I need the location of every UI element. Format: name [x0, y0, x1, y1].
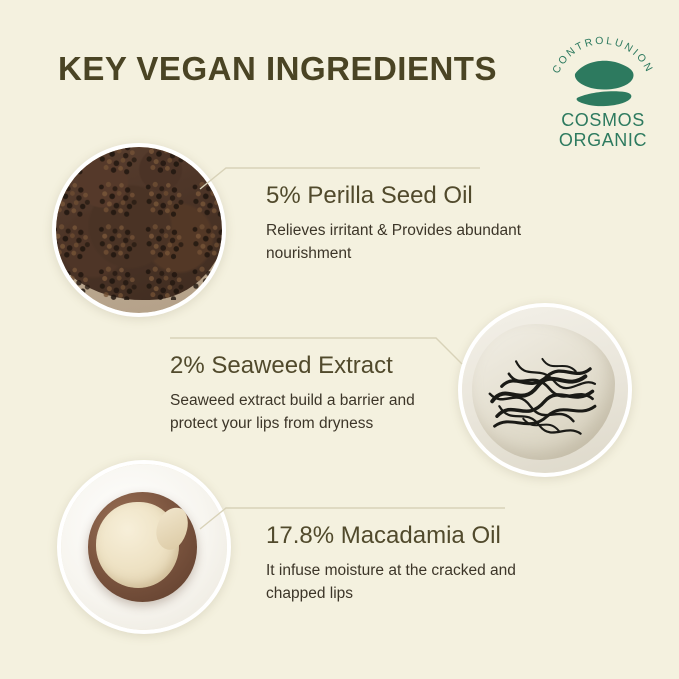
ingredient-text-3: 17.8% Macadamia Oil It infuse moisture a…: [266, 522, 552, 605]
page-title: KEY VEGAN INGREDIENTS: [58, 50, 497, 88]
perilla-seeds-image-inner: [56, 147, 222, 313]
seaweed-image-inner: [462, 307, 628, 473]
control-union-leaf-icon: CONTROLUNION: [541, 30, 665, 116]
ingredient-description-2: Seaweed extract build a barrier and prot…: [170, 389, 450, 435]
ingredient-name-3: 17.8% Macadamia Oil: [266, 522, 552, 550]
macadamia-nut-photo: [57, 460, 231, 634]
cert-name-line1: COSMOS: [541, 110, 665, 130]
cert-wordmark: COSMOS ORGANIC: [541, 110, 665, 150]
ingredient-description-3: It infuse moisture at the cracked and ch…: [266, 559, 546, 605]
seaweed-strands: [485, 344, 605, 444]
cosmos-organic-certification-logo: CONTROLUNION COSMOS ORGANIC: [541, 30, 665, 152]
seaweed-photo: [458, 303, 632, 477]
cert-name-line2: ORGANIC: [541, 130, 665, 150]
perilla-seeds-photo: [52, 143, 226, 317]
ingredient-name-1: 5% Perilla Seed Oil: [266, 182, 552, 210]
ingredient-name-2: 2% Seaweed Extract: [170, 352, 460, 380]
ingredient-description-1: Relieves irritant & Provides abundant no…: [266, 219, 546, 265]
perilla-seed-grain: [56, 147, 222, 300]
leaf-lower-shape: [577, 91, 632, 106]
perilla-seed-pile: [56, 147, 222, 300]
ingredient-text-1: 5% Perilla Seed Oil Relieves irritant & …: [266, 182, 552, 265]
key-vegan-ingredients-infographic: KEY VEGAN INGREDIENTS CONTROLUNION COSMO…: [0, 0, 679, 679]
leaf-upper-shape: [575, 61, 634, 90]
macadamia-image-inner: [61, 464, 227, 630]
ingredient-text-2: 2% Seaweed Extract Seaweed extract build…: [170, 352, 460, 435]
